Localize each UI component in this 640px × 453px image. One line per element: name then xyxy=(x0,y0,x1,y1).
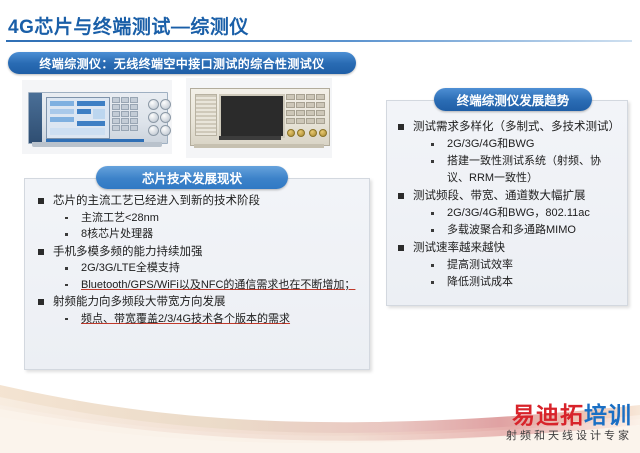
instrument-vent-grill xyxy=(195,94,217,136)
bullet-text: 射频能力向多频段大带宽方向发展 xyxy=(53,296,226,308)
bullet-text: 芯片的主流工艺已经进入到新的技术阶段 xyxy=(53,195,260,207)
instrument-display xyxy=(219,94,285,138)
sub-bullet-text: 2G/3G/LTE全模支持 xyxy=(81,262,180,274)
chip-sub-list: 主流工艺<28nm 8核芯片处理器 xyxy=(53,210,359,243)
trend-sub-list: 2G/3G/4G和BWG 搭建一致性测试系统（射频、协议、RRM一致性） xyxy=(413,136,619,187)
dot-bullet-icon xyxy=(431,281,434,284)
dot-bullet-icon xyxy=(65,267,68,270)
instrument-softkey-strip xyxy=(219,136,281,140)
list-item: 降低测试成本 xyxy=(413,274,619,291)
sub-bullet-text: 搭建一致性测试系统（射频、协议、RRM一致性） xyxy=(447,155,601,184)
brand-logo: 易迪拓培训 射频和天线设计专家 xyxy=(506,403,632,443)
dot-bullet-icon xyxy=(65,233,68,236)
dot-bullet-icon xyxy=(65,318,68,321)
square-bullet-icon xyxy=(398,245,404,251)
instrument-base xyxy=(194,144,324,148)
dot-bullet-icon xyxy=(431,264,434,267)
chip-sub-list: 2G/3G/LTE全模支持 Bluetooth/GPS/WiFi以及NFC的通信… xyxy=(53,260,359,293)
title-divider xyxy=(6,40,632,42)
instrument-photo-network-analyzer xyxy=(186,78,332,158)
list-item: 测试速率越来越快 提高测试效率 降低测试成本 xyxy=(391,240,619,291)
chip-sub-list: 频点、带宽覆盖2/3/4G技术各个版本的需求 xyxy=(53,311,359,328)
list-item: Bluetooth/GPS/WiFi以及NFC的通信需求也在不断增加； xyxy=(53,277,359,294)
list-item: 主流工艺<28nm xyxy=(53,210,359,227)
sub-bullet-text: Bluetooth/GPS/WiFi以及NFC的通信需求也在不断增加； xyxy=(81,279,355,291)
trend-sub-list: 2G/3G/4G和BWG，802.11ac 多载波聚合和多通路MIMO xyxy=(413,205,619,239)
list-item: 手机多模多频的能力持续加强 2G/3G/LTE全模支持 Bluetooth/GP… xyxy=(31,244,359,294)
trend-panel-header: 终端综测仪发展趋势 xyxy=(434,88,592,111)
sub-bullet-text: 2G/3G/4G和BWG xyxy=(447,138,534,150)
bullet-text: 测试需求多样化（多制式、多技术测试） xyxy=(413,121,620,133)
square-bullet-icon xyxy=(398,124,404,130)
chip-status-panel: 芯片的主流工艺已经进入到新的技术阶段 主流工艺<28nm 8核芯片处理器 xyxy=(24,178,370,370)
dot-bullet-icon xyxy=(431,160,434,163)
list-item: 测试频段、带宽、通道数大幅扩展 2G/3G/4G和BWG，802.11ac 多载… xyxy=(391,188,619,239)
dot-bullet-icon xyxy=(65,284,68,287)
list-item: 多载波聚合和多通路MIMO xyxy=(413,222,619,239)
instrument-chassis xyxy=(28,92,168,144)
trend-bullet-list: 测试需求多样化（多制式、多技术测试） 2G/3G/4G和BWG 搭建一致性测试系… xyxy=(391,119,619,291)
list-item: 2G/3G/LTE全模支持 xyxy=(53,260,359,277)
bullet-text: 测试速率越来越快 xyxy=(413,242,505,254)
page-title: 4G芯片与终端测试—综测仪 xyxy=(8,12,249,39)
instrument-knob xyxy=(148,112,159,123)
square-bullet-icon xyxy=(38,198,44,204)
bullet-text: 测试频段、带宽、通道数大幅扩展 xyxy=(413,190,586,202)
bullet-text: 手机多模多频的能力持续加强 xyxy=(53,246,203,258)
subtitle-banner: 终端综测仪：无线终端空中接口测试的综合性测试仪 xyxy=(8,52,356,74)
sub-bullet-text: 8核芯片处理器 xyxy=(81,228,153,240)
sub-bullet-text: 频点、带宽覆盖2/3/4G技术各个版本的需求 xyxy=(81,313,290,325)
dot-bullet-icon xyxy=(65,217,68,220)
logo-name-red: 易迪拓 xyxy=(512,402,584,428)
instrument-base xyxy=(32,142,162,147)
dot-bullet-icon xyxy=(431,143,434,146)
list-item: 2G/3G/4G和BWG xyxy=(413,136,619,153)
instrument-side-panel xyxy=(29,93,42,143)
logo-tagline: 射频和天线设计专家 xyxy=(506,429,632,443)
slide-root: 4G芯片与终端测试—综测仪 终端综测仪：无线终端空中接口测试的综合性测试仪 xyxy=(0,0,640,453)
list-item: 射频能力向多频段大带宽方向发展 频点、带宽覆盖2/3/4G技术各个版本的需求 xyxy=(31,294,359,327)
trend-panel: 测试需求多样化（多制式、多技术测试） 2G/3G/4G和BWG 搭建一致性测试系… xyxy=(386,100,628,306)
sub-bullet-text: 2G/3G/4G和BWG，802.11ac xyxy=(447,207,590,219)
square-bullet-icon xyxy=(398,193,404,199)
list-item: 测试需求多样化（多制式、多技术测试） 2G/3G/4G和BWG 搭建一致性测试系… xyxy=(391,119,619,187)
dot-bullet-icon xyxy=(431,212,434,215)
instrument-keypad xyxy=(112,97,144,137)
square-bullet-icon xyxy=(38,249,44,255)
instrument-knob xyxy=(148,125,159,136)
logo-name-blue: 培训 xyxy=(584,402,632,428)
dot-bullet-icon xyxy=(431,229,434,232)
instrument-knob xyxy=(160,112,171,123)
list-item: 2G/3G/4G和BWG，802.11ac xyxy=(413,205,619,222)
sub-bullet-text: 多载波聚合和多通路MIMO xyxy=(447,224,576,236)
instrument-photo-rohde-schwarz xyxy=(22,80,172,154)
logo-wordmark: 易迪拓培训 xyxy=(506,403,632,428)
sub-bullet-text: 主流工艺<28nm xyxy=(81,212,159,224)
sub-bullet-text: 提高测试效率 xyxy=(447,259,513,271)
list-item: 频点、带宽覆盖2/3/4G技术各个版本的需求 xyxy=(53,311,359,328)
list-item: 芯片的主流工艺已经进入到新的技术阶段 主流工艺<28nm 8核芯片处理器 xyxy=(31,193,359,243)
list-item: 搭建一致性测试系统（射频、协议、RRM一致性） xyxy=(413,153,619,187)
sub-bullet-text: 降低测试成本 xyxy=(447,276,513,288)
chip-bullet-list: 芯片的主流工艺已经进入到新的技术阶段 主流工艺<28nm 8核芯片处理器 xyxy=(31,193,359,327)
instrument-display xyxy=(46,97,110,139)
instrument-knob xyxy=(160,99,171,110)
instrument-rf-ports xyxy=(287,129,325,137)
instrument-chassis xyxy=(190,88,330,146)
instrument-knob xyxy=(160,125,171,136)
square-bullet-icon xyxy=(38,299,44,305)
list-item: 8核芯片处理器 xyxy=(53,226,359,243)
instrument-keypad xyxy=(286,94,326,128)
chip-panel-header: 芯片技术发展现状 xyxy=(96,166,288,189)
trend-sub-list: 提高测试效率 降低测试成本 xyxy=(413,257,619,291)
instrument-knob xyxy=(148,99,159,110)
list-item: 提高测试效率 xyxy=(413,257,619,274)
